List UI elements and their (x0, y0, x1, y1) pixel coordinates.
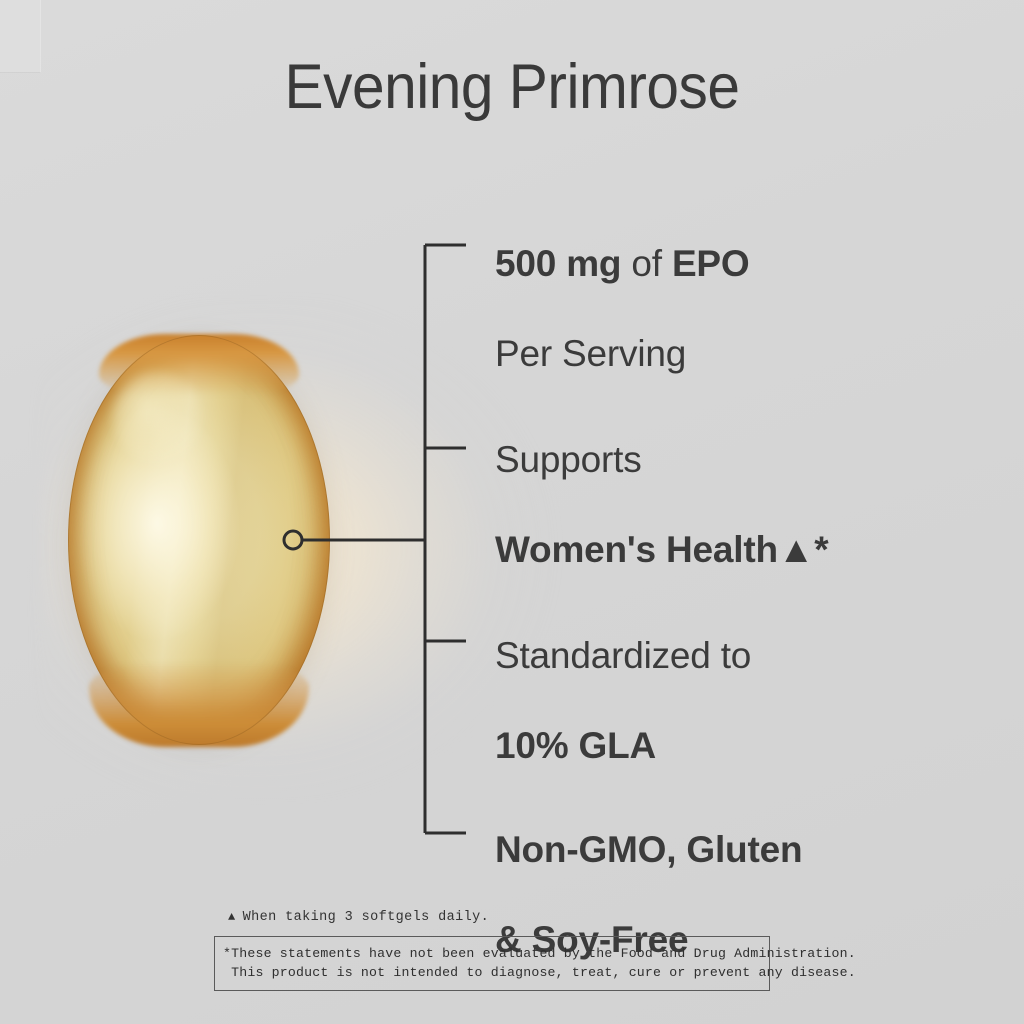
infographic-canvas: Evening Primrose 500 mg of EPO Per Servi… (0, 0, 1024, 1024)
callout-4-line-1: Non-GMO, Gluten (495, 827, 802, 872)
fda-disclaimer-line-2: This product is not intended to diagnose… (223, 963, 761, 982)
background-seam-horizontal (0, 72, 40, 73)
callout-2-line-2: Women's Health▲* (495, 527, 829, 572)
callout-gla-standardization: Standardized to 10% GLA (495, 588, 751, 814)
triangle-footnote-text: When taking 3 softgels daily. (243, 910, 490, 925)
callout-4-claims-a: Non-GMO, Gluten (495, 829, 802, 870)
page-title: Evening Primrose (36, 56, 988, 119)
callout-1-connector-word: of (621, 243, 672, 284)
fda-disclaimer-box: *These statements have not been evaluate… (214, 936, 770, 991)
triangle-icon: ▲ (228, 911, 236, 923)
callout-womens-health: Supports Women's Health▲* (495, 392, 829, 618)
callout-1-dose-value: 500 mg (495, 243, 621, 284)
triangle-footnote: ▲ When taking 3 softgels daily. (228, 910, 489, 925)
background-corner-patch (0, 0, 40, 72)
fda-disclaimer-line-1: *These statements have not been evaluate… (223, 944, 761, 963)
evening-primrose-softgel (68, 335, 330, 745)
callout-1-line-2: Per Serving (495, 331, 750, 376)
callout-epo-dosage: 500 mg of EPO Per Serving (495, 196, 750, 422)
callout-2-line-1: Supports (495, 437, 829, 482)
callout-1-line-1: 500 mg of EPO (495, 241, 750, 286)
softgel-body (68, 335, 330, 745)
callout-3-gla-value: 10% GLA (495, 725, 656, 766)
callout-2-footnote-markers: ▲* (778, 529, 829, 570)
softgel-outline (68, 335, 330, 745)
callout-2-benefit: Women's Health (495, 529, 778, 570)
callout-3-line-2: 10% GLA (495, 723, 751, 768)
callout-1-ingredient: EPO (672, 243, 750, 284)
callout-3-line-1: Standardized to (495, 633, 751, 678)
